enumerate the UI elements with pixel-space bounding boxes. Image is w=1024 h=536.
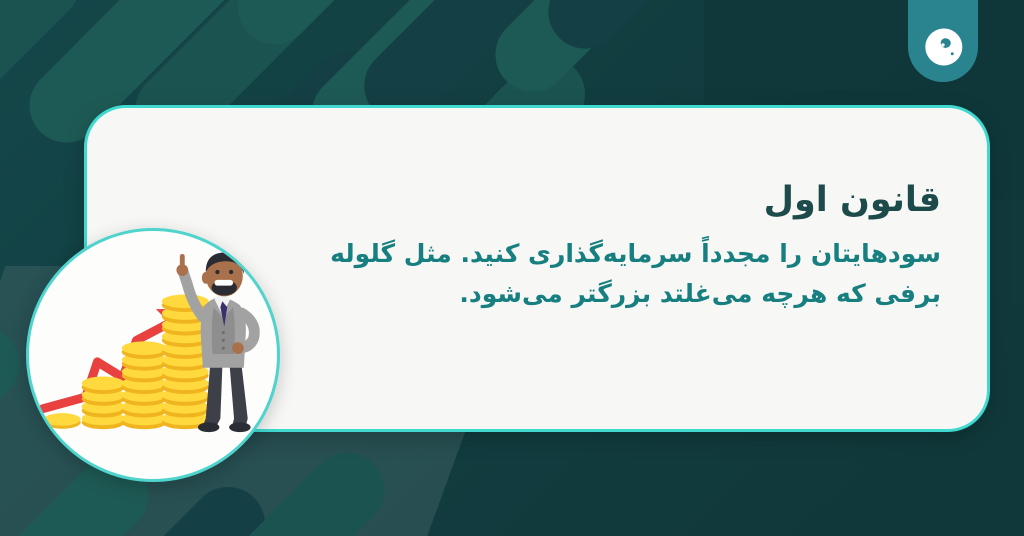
- coin-stack-3: [122, 341, 167, 429]
- card-title: قانون اول: [321, 180, 941, 220]
- coin-stack-2: [82, 376, 125, 429]
- card-text-block: قانون اول سودهایتان را مجدداً سرمایه‌گذا…: [321, 180, 941, 313]
- card-body-text: سودهایتان را مجدداً سرمایه‌گذاری کنید. م…: [321, 234, 941, 313]
- brand-logo-badge[interactable]: [908, 0, 978, 82]
- coin-stack-1: [44, 413, 81, 429]
- bubbles-moon-logo-icon: [922, 26, 964, 68]
- investment-growth-illustration-icon: [29, 231, 277, 479]
- poster-canvas: قانون اول سودهایتان را مجدداً سرمایه‌گذا…: [0, 0, 1024, 536]
- illustration-circle: [26, 228, 280, 482]
